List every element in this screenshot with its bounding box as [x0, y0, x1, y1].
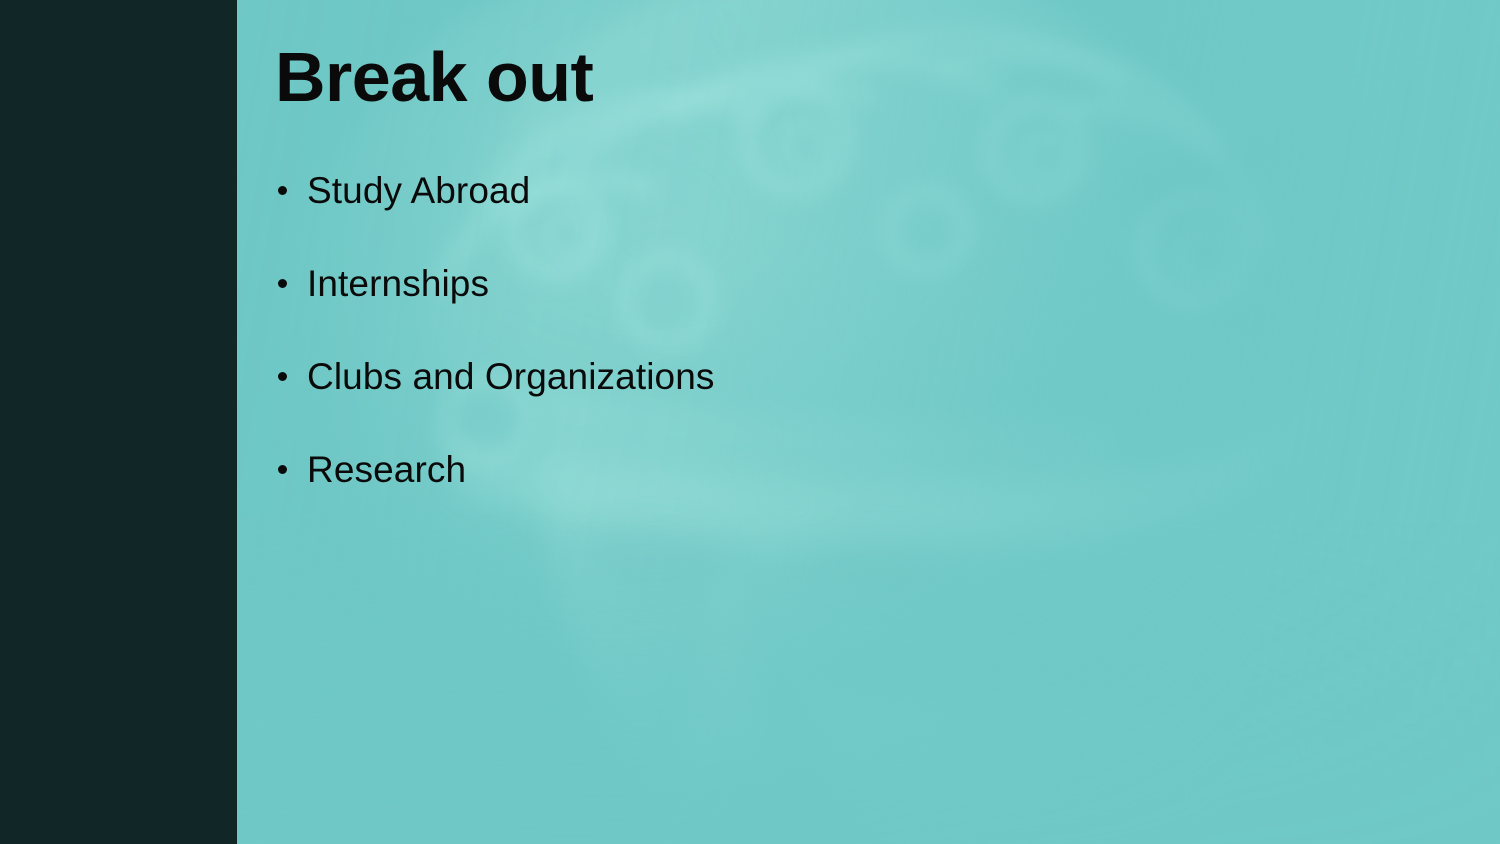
bullet-point-icon — [278, 372, 287, 381]
bullet-point-icon — [278, 186, 287, 195]
list-item: Study Abroad — [275, 168, 1275, 261]
bullet-list: Study Abroad Internships Clubs and Organ… — [275, 168, 1275, 540]
list-item: Clubs and Organizations — [275, 354, 1275, 447]
slide-title: Break out — [275, 42, 593, 112]
list-item: Research — [275, 447, 1275, 540]
sidebar-accent-bar — [0, 0, 237, 844]
bullet-point-icon — [278, 465, 287, 474]
bullet-point-icon — [278, 279, 287, 288]
presentation-slide: Break out Study Abroad Internships Clubs… — [0, 0, 1500, 844]
list-item-label: Research — [307, 447, 466, 493]
slide-content: Break out Study Abroad Internships Clubs… — [275, 0, 1425, 844]
list-item-label: Clubs and Organizations — [307, 354, 714, 400]
list-item-label: Study Abroad — [307, 168, 530, 214]
list-item-label: Internships — [307, 261, 489, 307]
list-item: Internships — [275, 261, 1275, 354]
